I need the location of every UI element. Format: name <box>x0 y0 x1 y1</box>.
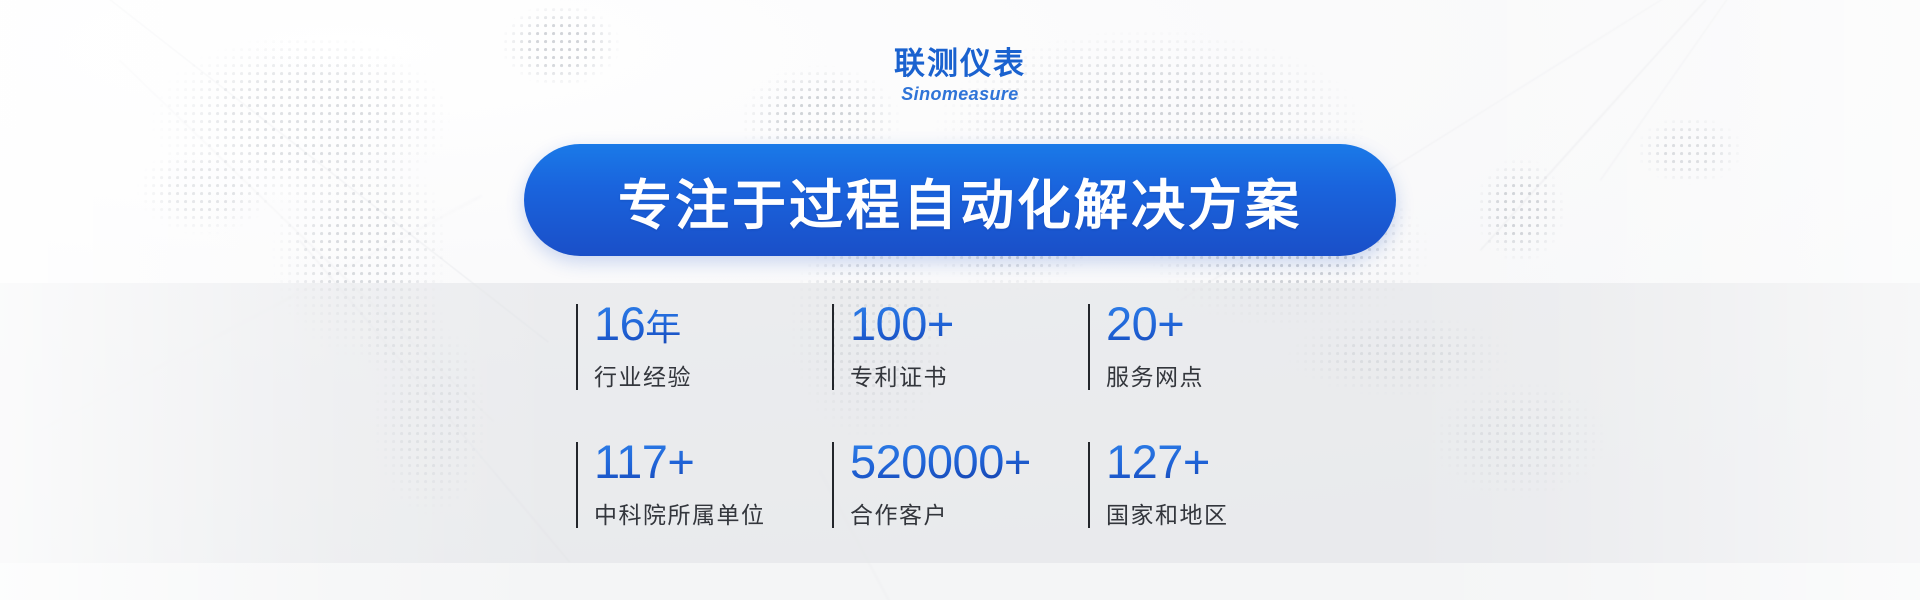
brand-logo-en: Sinomeasure <box>901 84 1018 105</box>
stat-rule <box>576 304 578 390</box>
stat-rule <box>576 442 578 528</box>
stat-item: 16年 行业经验 <box>576 300 832 412</box>
stat-value: 127+ <box>1106 438 1344 485</box>
stat-value-number: 127+ <box>1106 435 1210 488</box>
stat-value: 520000+ <box>850 438 1088 485</box>
stat-rule <box>832 442 834 528</box>
stat-value: 16年 <box>594 300 832 347</box>
hero-banner: 联测仪表 Sinomeasure 专注于过程自动化解决方案 16年 行业经验 1… <box>0 0 1920 600</box>
stat-value-number: 16 <box>594 297 645 350</box>
stat-value: 100+ <box>850 300 1088 347</box>
stat-value: 20+ <box>1106 300 1344 347</box>
stat-item: 100+ 专利证书 <box>832 300 1088 412</box>
headline-text: 专注于过程自动化解决方案 <box>618 161 1302 240</box>
stat-value: 117+ <box>594 438 832 485</box>
brand-logo: 联测仪表 Sinomeasure <box>0 48 1920 105</box>
stat-rule <box>1088 442 1090 528</box>
stat-label: 行业经验 <box>594 358 832 392</box>
stat-item: 117+ 中科院所属单位 <box>576 438 832 550</box>
stat-value-number: 20+ <box>1106 297 1184 350</box>
stat-rule <box>1088 304 1090 390</box>
stat-item: 20+ 服务网点 <box>1088 300 1344 412</box>
stat-value-number: 117+ <box>594 435 694 488</box>
stat-item: 520000+ 合作客户 <box>832 438 1088 550</box>
stat-label: 合作客户 <box>850 496 1088 530</box>
stat-value-number: 520000+ <box>850 435 1031 488</box>
stat-label: 专利证书 <box>850 358 1088 392</box>
stat-value-number: 100+ <box>850 297 954 350</box>
brand-logo-cn: 联测仪表 <box>894 48 1026 81</box>
stat-label: 服务网点 <box>1106 358 1344 392</box>
stat-item: 127+ 国家和地区 <box>1088 438 1344 550</box>
stat-value-suffix: 年 <box>645 308 681 349</box>
stat-label: 国家和地区 <box>1106 496 1344 530</box>
stat-label: 中科院所属单位 <box>594 496 832 530</box>
headline-pill: 专注于过程自动化解决方案 <box>524 144 1396 256</box>
stat-rule <box>832 304 834 390</box>
stats-grid: 16年 行业经验 100+ 专利证书 20+ 服务网点 117+ 中科院所属单位 <box>576 300 1344 550</box>
